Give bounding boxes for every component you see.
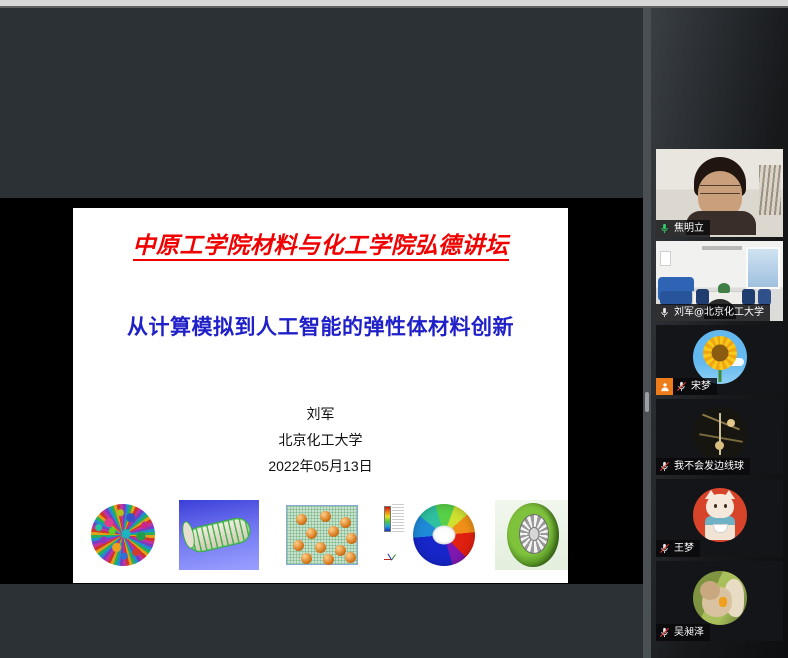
figure-nanotube-model <box>179 500 259 570</box>
participant-name: 王梦 <box>673 544 694 554</box>
participant-name: 刘军@北京化工大学 <box>673 308 764 318</box>
slide-figure-strip <box>83 500 561 570</box>
microphone-on-icon <box>656 220 673 237</box>
participant-nameplate: 焦明立 <box>656 220 710 237</box>
microphone-muted-icon <box>656 540 673 557</box>
panel-divider[interactable] <box>643 8 651 658</box>
microphone-muted-icon <box>656 624 673 641</box>
microphone-on-icon <box>656 304 673 321</box>
participant-tile[interactable]: 吴昶泽 <box>656 561 783 641</box>
figure-polymer-chain-cluster <box>87 500 159 570</box>
participant-tile[interactable]: 我不会发边线球 <box>656 399 783 475</box>
participant-name: 焦明立 <box>673 224 704 234</box>
participant-nameplate: 吴昶泽 <box>656 624 710 641</box>
participant-video-rail[interactable]: 焦明立 <box>651 8 788 658</box>
participant-tile[interactable]: 宋梦 <box>656 325 783 395</box>
shared-screen-stage[interactable]: 中原工学院材料与化工学院弘德讲坛 从计算模拟到人工智能的弹性体材料创新 刘军 北… <box>0 8 651 658</box>
polymer-blob-graphic <box>91 504 155 566</box>
slide-date: 2022年05月13日 <box>73 456 568 478</box>
slide-title-text: 中原工学院材料与化工学院弘德讲坛 <box>133 233 509 261</box>
slide-author: 刘军 <box>73 404 568 426</box>
tire-rim-graphic <box>519 514 549 554</box>
figure-fea-torus-contour <box>383 500 479 570</box>
nanotube-graphic <box>185 515 253 555</box>
participant-nameplate: 我不会发边线球 <box>656 458 750 475</box>
participant-nameplate: 王梦 <box>656 540 700 557</box>
colorbar-tick-labels <box>392 504 404 534</box>
participant-name: 宋梦 <box>690 382 711 392</box>
participant-tile[interactable]: 刘军@北京化工大学 <box>656 241 783 321</box>
participant-name: 我不会发边线球 <box>673 462 744 472</box>
figure-filled-composite-cube <box>279 500 365 570</box>
axis-triad-icon <box>385 550 397 562</box>
slide-title: 中原工学院材料与化工学院弘德讲坛 <box>73 226 568 260</box>
slide-affiliation: 北京化工大学 <box>73 430 568 452</box>
avatar <box>693 488 747 542</box>
conference-window: 中原工学院材料与化工学院弘德讲坛 从计算模拟到人工智能的弹性体材料创新 刘军 北… <box>0 0 788 658</box>
contour-colorbar <box>384 506 391 532</box>
slide-subtitle: 从计算模拟到人工智能的弹性体材料创新 <box>73 311 568 341</box>
microphone-muted-icon <box>656 458 673 475</box>
torus-contour-graphic <box>413 504 475 566</box>
avatar <box>693 571 747 625</box>
panel-resize-handle[interactable] <box>645 392 649 412</box>
participant-nameplate: 宋梦 <box>656 378 717 395</box>
avatar <box>693 407 747 461</box>
avatar <box>693 330 747 384</box>
host-person-icon <box>656 378 673 395</box>
figure-green-tire <box>495 500 568 570</box>
microphone-muted-icon <box>673 378 690 395</box>
participant-tile[interactable]: 焦明立 <box>656 149 783 237</box>
participant-tile[interactable]: 王梦 <box>656 479 783 557</box>
presentation-slide[interactable]: 中原工学院材料与化工学院弘德讲坛 从计算模拟到人工智能的弹性体材料创新 刘军 北… <box>73 208 568 583</box>
composite-cube-graphic <box>286 505 358 565</box>
participant-nameplate: 刘军@北京化工大学 <box>656 304 770 321</box>
participant-name: 吴昶泽 <box>673 628 704 638</box>
